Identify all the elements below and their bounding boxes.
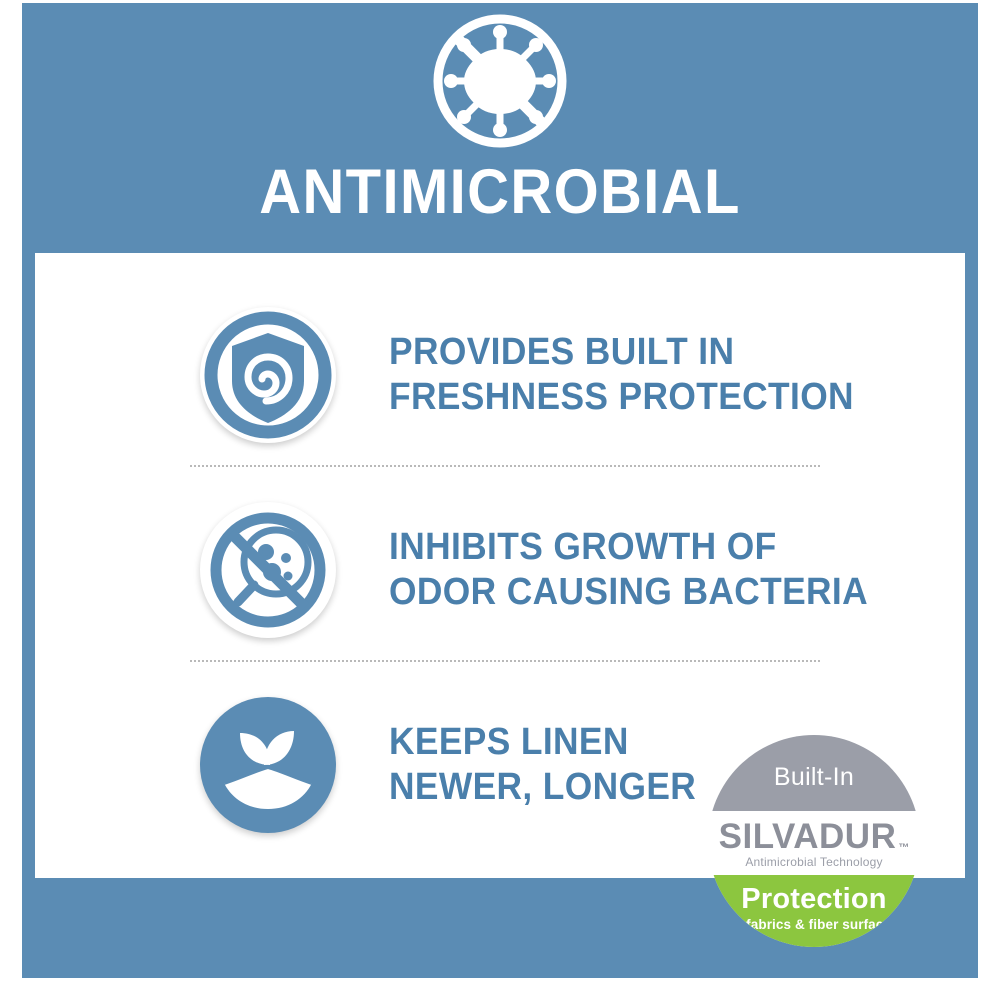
badge-top-band: Built-In [708, 735, 920, 811]
badge-tagline: Antimicrobial Technology [745, 856, 882, 868]
feature-label: INHIBITS GROWTH OF ODOR CAUSING BACTERIA [389, 525, 868, 615]
antimicrobial-infographic: ANTIMICROBIAL PROVIDES BUILT IN FRESHNES… [0, 0, 1000, 1000]
no-virus-icon [430, 11, 570, 151]
silvadur-badge: Built-In SILVADUR™ Antimicrobial Technol… [708, 735, 920, 947]
badge-brand-name: SILVADUR™ [719, 819, 910, 854]
feature-row: PROVIDES BUILT IN FRESHNESS PROTECTION [35, 295, 965, 455]
feature-label: KEEPS LINEN NEWER, LONGER [389, 720, 696, 810]
page-title: ANTIMICROBIAL [60, 161, 940, 224]
no-bacteria-magnifier-icon [200, 502, 336, 638]
feature-label: PROVIDES BUILT IN FRESHNESS PROTECTION [389, 330, 854, 420]
badge-built-in-label: Built-In [774, 755, 854, 792]
badge-middle-band: SILVADUR™ Antimicrobial Technology [708, 811, 920, 875]
leaf-sprout-icon [200, 697, 336, 833]
row-divider [190, 465, 820, 468]
badge-protection-sublabel: to fabrics & fiber surfaces [729, 918, 898, 932]
feature-row: INHIBITS GROWTH OF ODOR CAUSING BACTERIA [35, 490, 965, 650]
shield-swirl-icon [200, 307, 336, 443]
badge-brand-text: SILVADUR [719, 817, 897, 856]
badge-bottom-band: Protection to fabrics & fiber surfaces [708, 875, 920, 947]
row-divider [190, 660, 820, 663]
badge-protection-label: Protection [741, 885, 886, 914]
header: ANTIMICROBIAL [22, 3, 978, 253]
trademark-symbol: ™ [898, 842, 909, 854]
